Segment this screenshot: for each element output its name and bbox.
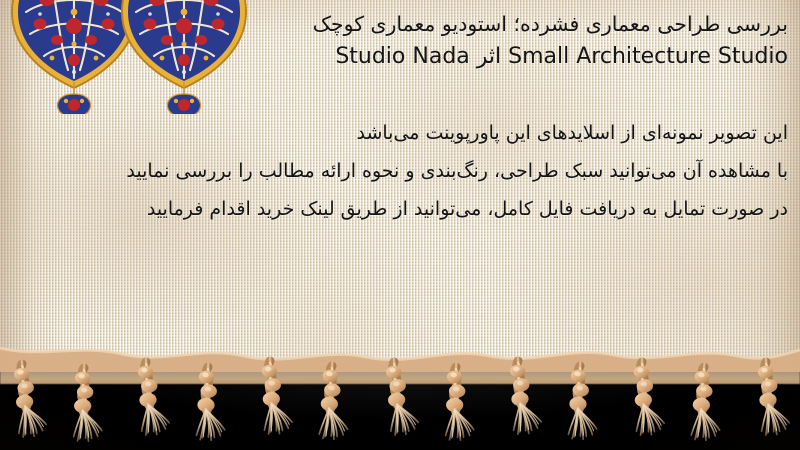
title-line-primary: بررسی طراحی معماری فشرده؛ استودیو معماری… [230,8,788,40]
carpet-edge-binding [0,360,800,384]
slide-title: بررسی طراحی معماری فشرده؛ استودیو معماری… [230,8,788,74]
slide-body-text: این تصویر نمونه‌ای از اسلایدهای این پاور… [60,114,788,228]
title-line-secondary: Small Architecture Studio اثر Studio Nad… [230,40,788,74]
body-line-3: در صورت تمایل به دریافت فایل کامل، می‌تو… [60,190,788,228]
body-line-2: با مشاهده آن می‌توانید سبک طراحی، رنگ‌بن… [60,152,788,190]
body-line-1: این تصویر نمونه‌ای از اسلایدهای این پاور… [60,114,788,152]
slide-canvas: بررسی طراحی معماری فشرده؛ استودیو معماری… [0,0,800,450]
